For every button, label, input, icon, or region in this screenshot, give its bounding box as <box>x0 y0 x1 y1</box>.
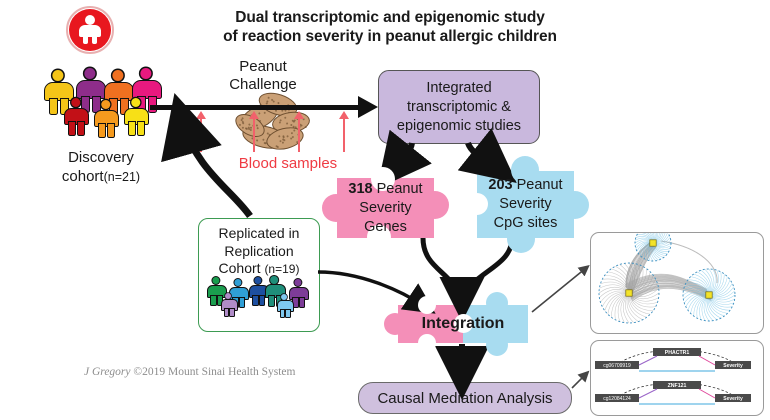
cpg-knob-right <box>561 191 589 219</box>
discovery-cohort-label: Discovery cohort(n=21) <box>26 148 176 187</box>
discovery-cohort-figures <box>40 68 165 158</box>
discovery-n: (n=21) <box>104 170 140 184</box>
peanut-severity-genes-piece[interactable]: 318 Peanut Severity Genes <box>337 178 434 238</box>
arrow-integration-to-network <box>532 268 586 312</box>
causal-label: Causal Mediation Analysis <box>377 390 552 407</box>
integration-label: Integration <box>398 305 528 343</box>
cpg-notch-left <box>466 193 488 215</box>
arrow-integrated-to-genes <box>392 143 412 170</box>
mediation-cpg-label: cg06709919 <box>603 363 631 369</box>
discovery-figure-front-3 <box>124 98 147 134</box>
replication-line1: Replicated in <box>199 225 319 243</box>
integration-node[interactable]: Integration <box>398 305 528 343</box>
cpg-line2: Severity <box>488 195 562 214</box>
discovery-label-line1: Discovery <box>26 148 176 167</box>
logo-figure-head <box>85 15 95 25</box>
network-hive-plot-panel[interactable] <box>590 232 764 334</box>
blood-sample-arrow-4 <box>343 118 345 152</box>
mediation-row-2: ZNF121cg12084124Severity <box>595 381 751 404</box>
integrated-line3: epigenomic studies <box>397 117 521 136</box>
discovery-figure-front-1 <box>64 98 87 134</box>
cpg-count: 203 <box>488 177 512 193</box>
genes-line3: Genes <box>348 218 422 237</box>
peanut-severity-cpg-piece[interactable]: 203 Peanut Severity CpG sites <box>477 171 574 238</box>
peanut-label-line1: Peanut <box>198 58 328 76</box>
arrow-causal-to-mediation <box>572 374 586 388</box>
integrated-studies-box[interactable]: Integrated transcriptomic & epigenomic s… <box>378 70 540 144</box>
replication-figure-front-2 <box>277 294 292 316</box>
peanut-illustration <box>232 92 318 154</box>
genes-knob-right <box>421 191 449 219</box>
genes-line2: Severity <box>348 199 422 218</box>
blood-sample-arrow-1 <box>200 118 202 152</box>
title-line-2: of reaction severity in peanut allergic … <box>190 27 590 46</box>
mediation-cpg-label: cg12084124 <box>603 396 631 402</box>
mediation-row-1: PHACTR1cg06709919Severity <box>595 348 751 371</box>
replication-cohort-figures <box>207 277 311 327</box>
discovery-figure-front-2 <box>94 100 117 136</box>
mediation-outcome-label: Severity <box>723 396 743 402</box>
mount-sinai-logo <box>66 6 114 54</box>
replication-figure-front-1 <box>221 293 236 315</box>
integrated-line2: transcriptomic & <box>397 98 521 117</box>
credit-text: ©2019 Mount Sinai Health System <box>131 366 296 378</box>
mediation-gene-label: ZNF121 <box>668 383 687 389</box>
genes-count: 318 <box>348 181 372 197</box>
cpg-piece-text: 203 Peanut Severity CpG sites <box>488 176 562 233</box>
logo-figure-leg-right <box>92 33 97 44</box>
genes-knob-left <box>322 194 350 222</box>
timeline-arrow-shaft <box>150 105 365 110</box>
replication-line2: Replication <box>199 243 319 261</box>
page-title: Dual transcriptomic and epigenomic study… <box>190 8 590 46</box>
discovery-label-line2: cohort(n=21) <box>26 167 176 187</box>
artist-credit: J Gregory ©2019 Mount Sinai Health Syste… <box>84 366 295 378</box>
blood-sample-arrow-2 <box>253 118 255 152</box>
title-line-1: Dual transcriptomic and epigenomic study <box>190 8 590 27</box>
arrow-genes-to-integration <box>423 238 460 300</box>
cpg-line1: 203 Peanut <box>488 176 562 195</box>
genes-piece-text: 318 Peanut Severity Genes <box>348 180 422 237</box>
replication-line3: Cohort (n=19) <box>199 260 319 279</box>
genes-line1: 318 Peanut <box>348 180 422 199</box>
credit-artist: J Gregory <box>84 366 131 378</box>
mediation-outcome-label: Severity <box>723 363 743 369</box>
causal-mediation-box[interactable]: Causal Mediation Analysis <box>358 382 572 414</box>
mediation-gene-label: PHACTR1 <box>665 350 690 356</box>
arrow-integrated-to-cpg <box>468 143 498 168</box>
arrow-cpg-to-integration <box>463 238 512 300</box>
logo-figure-leg-left <box>83 33 88 44</box>
blood-sample-arrow-3 <box>298 118 300 152</box>
replication-cohort-label: Replicated in Replication Cohort (n=19) <box>199 225 319 279</box>
mediation-diagram-panel[interactable]: PHACTR1cg06709919SeverityZNF121cg1208412… <box>590 340 764 416</box>
integrated-line1: Integrated <box>397 79 521 98</box>
blood-samples-label: Blood samples <box>208 155 368 172</box>
replication-n: (n=19) <box>264 262 299 276</box>
cpg-line3: CpG sites <box>488 214 562 233</box>
arrow-replication-to-integration <box>318 272 424 306</box>
replication-cohort-box[interactable]: Replicated in Replication Cohort (n=19) <box>198 218 320 332</box>
replication-figure-back-3 <box>249 277 267 304</box>
peanut-challenge-label: Peanut Challenge <box>198 58 328 94</box>
timeline-arrow-head <box>358 96 378 118</box>
